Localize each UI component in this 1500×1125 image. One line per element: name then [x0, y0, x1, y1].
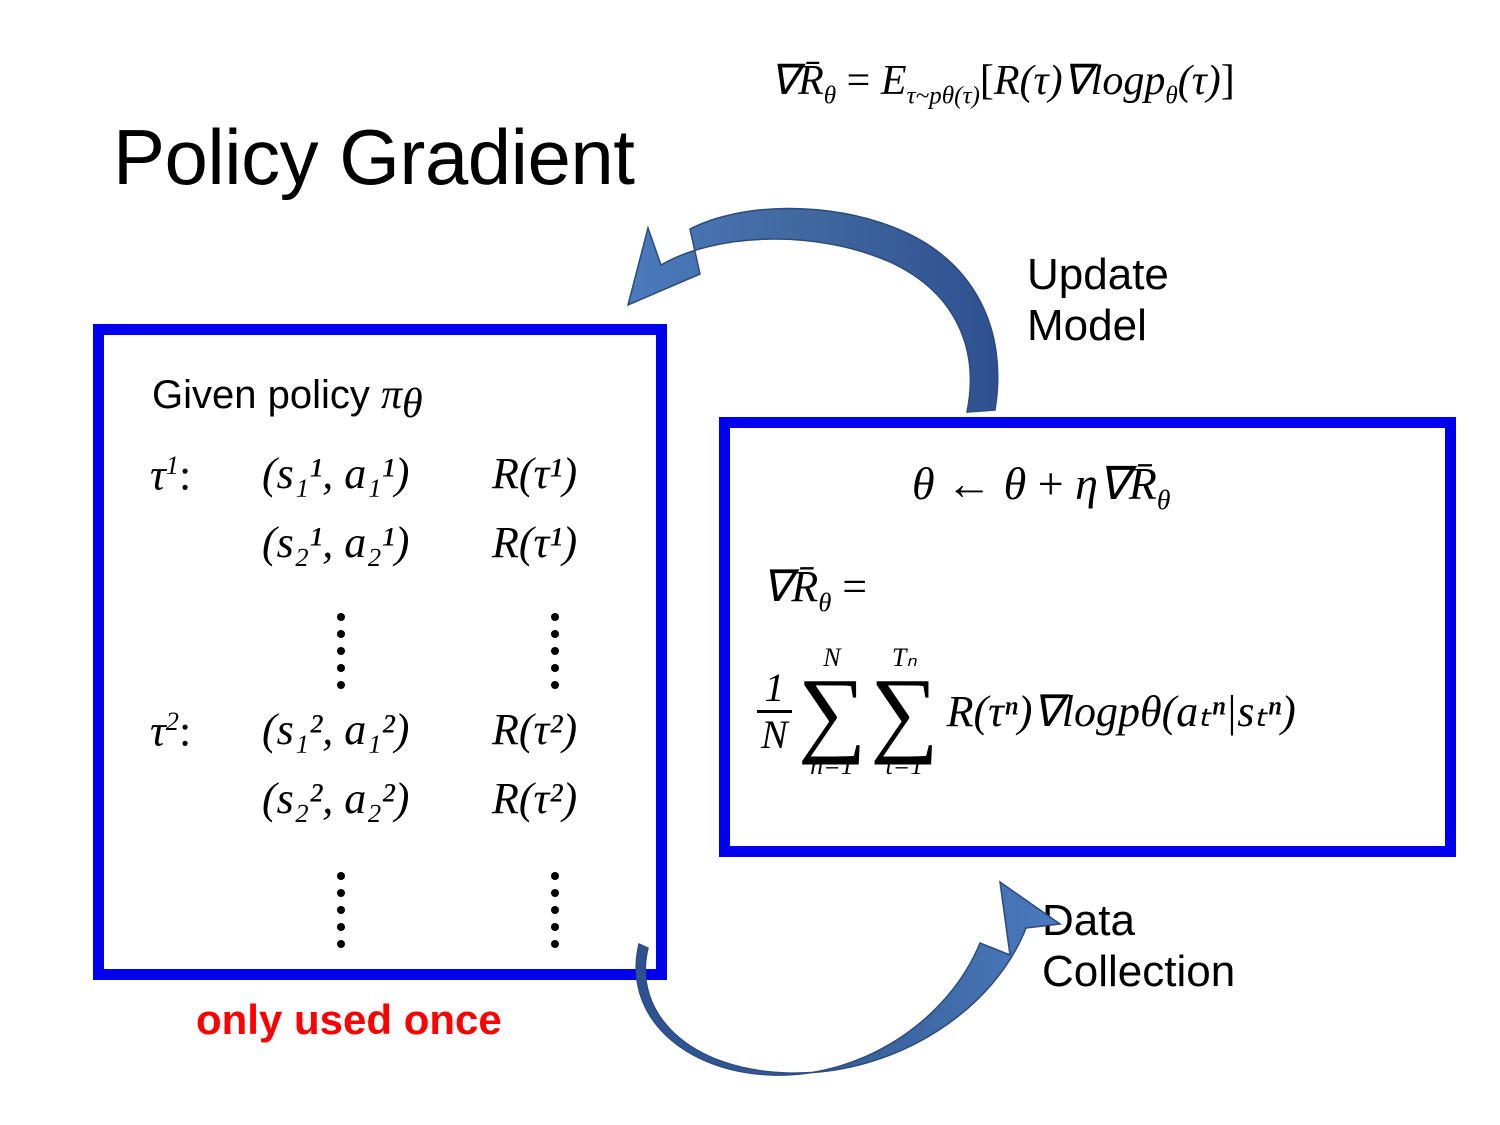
state-action-pair: (s₁², a₁²) — [262, 708, 409, 752]
theta-update-rule: θ ← θ + η∇R̄θ — [912, 461, 1170, 514]
formula-grad-log-arg: (τ) — [1178, 58, 1221, 104]
summation-body: R(τⁿ)∇logpθ(aₜⁿ|sₜⁿ) — [947, 686, 1296, 737]
sigma-icon: ∑ — [798, 671, 866, 753]
slide-canvas: Policy Gradient ∇R̄θ = Eτ~pθ(τ)[R(τ)∇log… — [0, 0, 1500, 1125]
tau-2-colon: : — [179, 707, 191, 756]
sum-n-lower-limit: n=1 — [810, 753, 854, 779]
gradient-definition-lhs: ∇R̄θ = — [762, 565, 867, 615]
page-title: Policy Gradient — [113, 118, 634, 196]
tau-1-superscript: 1 — [166, 450, 179, 480]
tau-1-colon: : — [179, 451, 191, 500]
data-collection-label: Data Collection — [1042, 895, 1235, 998]
grad-r-bar: ∇R̄ — [1098, 458, 1157, 509]
formula-reward: R(τ) — [994, 58, 1063, 104]
tau-1-symbol: τ — [150, 451, 166, 500]
trajectory-1-label: τ1: — [150, 452, 191, 498]
trajectory-2-label: τ2: — [150, 708, 191, 754]
gradient-definition-rhs: 1 N N ∑ n=1 Tₙ ∑ t=1 R(τⁿ)∇logpθ(aₜⁿ|sₜⁿ… — [757, 645, 1296, 779]
policy-gradient-formula: ∇R̄θ = Eτ~pθ(τ)[R(τ)∇logpθ(τ)] — [770, 60, 1235, 109]
sum-t-lower-limit: t=1 — [885, 753, 923, 779]
theta-symbol-2: θ — [1004, 458, 1027, 509]
fraction-numerator: 1 — [760, 668, 788, 709]
formula-grad-log: ∇logp — [1063, 58, 1166, 104]
theta-symbol: θ — [912, 458, 935, 509]
state-action-pair: (s₂¹, a₂¹) — [262, 521, 409, 565]
state-action-pair: (s₂², a₂²) — [262, 777, 409, 821]
formula-lhs: ∇R̄ — [770, 58, 824, 104]
formula-equals: = — [847, 58, 871, 104]
grad-lhs-symbol: ∇R̄ — [762, 562, 818, 611]
summation-over-t: Tₙ ∑ t=1 — [870, 645, 938, 779]
state-action-pair: (s₁¹, a₁¹) — [262, 452, 409, 496]
plus-sign: + — [1038, 458, 1064, 509]
grad-r-bar-sub: θ — [1157, 484, 1171, 515]
summation-over-n: N ∑ n=1 — [798, 645, 866, 779]
vertical-ellipsis-icon — [337, 872, 345, 948]
vertical-ellipsis-icon — [337, 613, 345, 689]
formula-expectation-sub: τ~pθ(τ) — [906, 82, 979, 109]
reward-value: R(τ²) — [492, 708, 577, 752]
tau-2-superscript: 2 — [166, 706, 179, 736]
given-policy-label: Given policy πθ — [152, 371, 423, 428]
vertical-ellipsis-icon — [551, 872, 559, 948]
fraction-denominator: N — [757, 715, 792, 756]
pi-subscript: θ — [402, 381, 423, 427]
formula-expectation: E — [881, 58, 907, 104]
eta-symbol: η — [1075, 458, 1098, 509]
data-arrow-helper — [638, 888, 1019, 1068]
update-model-label: Update Model — [1027, 249, 1169, 352]
grad-lhs-equals: = — [842, 562, 867, 611]
pi-symbol: π — [381, 372, 402, 418]
given-policy-text: Given policy — [152, 373, 381, 417]
formula-grad-log-sub: θ — [1165, 82, 1177, 109]
one-over-n-fraction: 1 N — [757, 668, 792, 757]
update-arrow-path — [628, 208, 998, 412]
tau-2-symbol: τ — [150, 707, 166, 756]
formula-lhs-sub: θ — [824, 82, 836, 109]
formula-bracket-open: [ — [980, 58, 994, 104]
sigma-icon: ∑ — [870, 671, 938, 753]
reward-value: R(τ¹) — [492, 521, 577, 565]
formula-bracket-close: ] — [1221, 58, 1235, 104]
only-used-once-caption: only used once — [196, 996, 502, 1044]
left-arrow-icon: ← — [946, 458, 992, 509]
data-arrow-path — [636, 882, 1060, 1075]
reward-value: R(τ¹) — [492, 452, 577, 496]
vertical-ellipsis-icon — [551, 613, 559, 689]
grad-lhs-sub: θ — [818, 587, 831, 617]
reward-value: R(τ²) — [492, 777, 577, 821]
